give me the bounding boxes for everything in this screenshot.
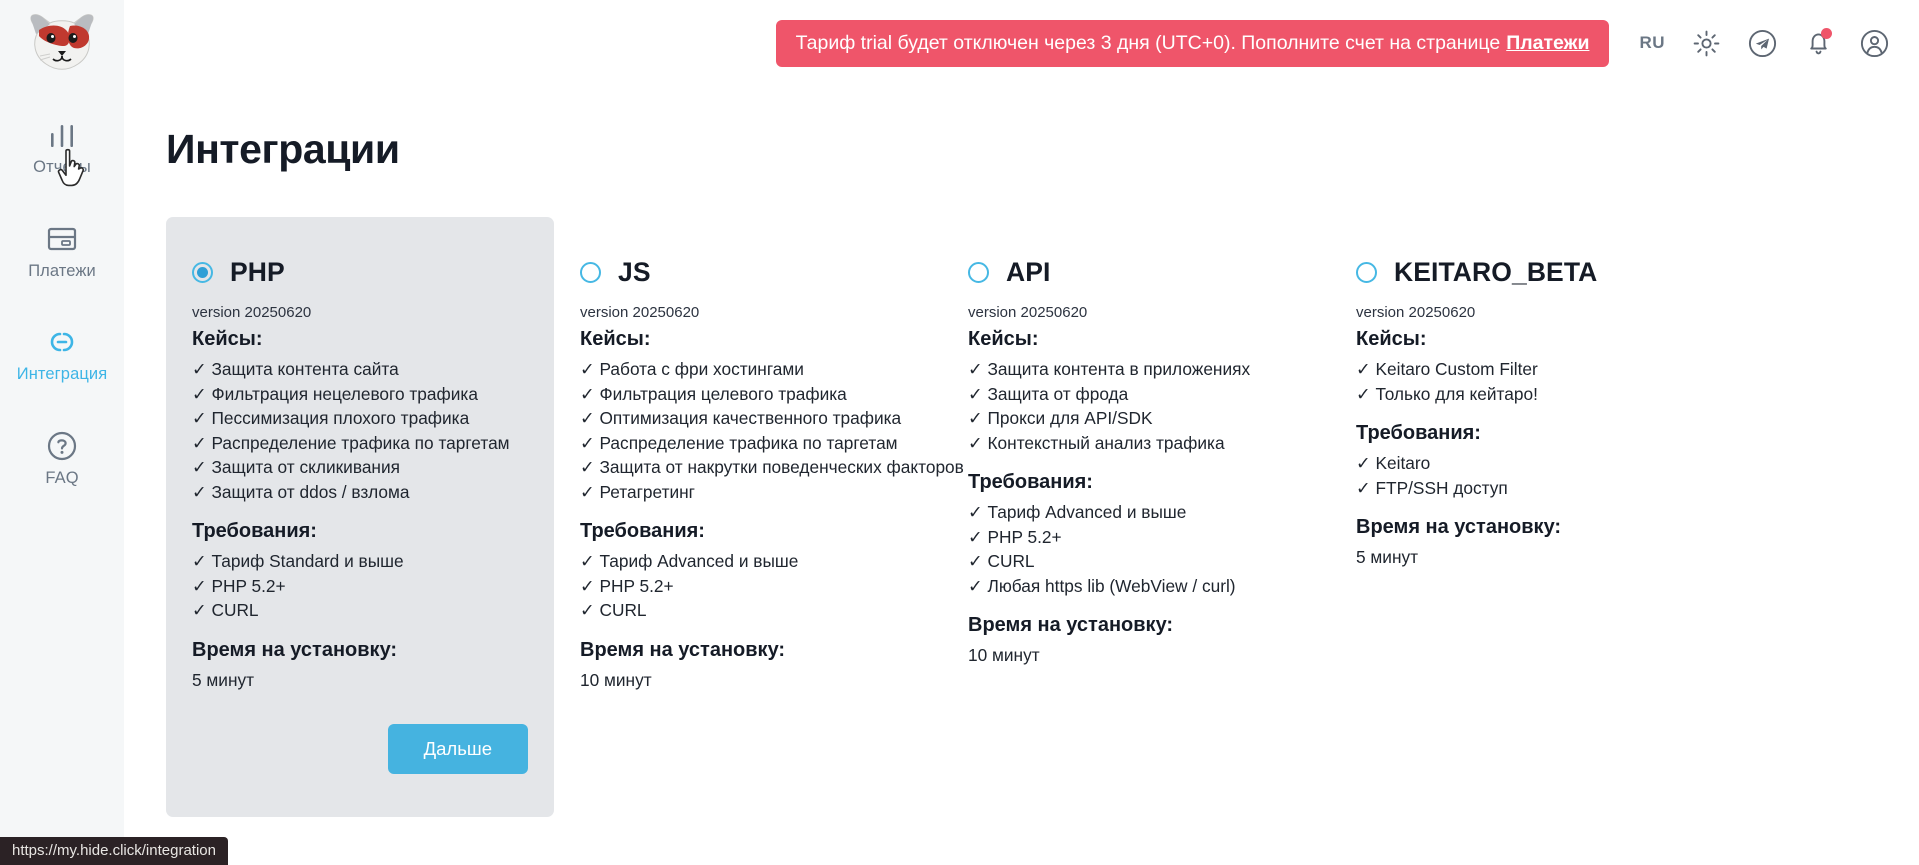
radio-button-keitaro_beta[interactable] xyxy=(1356,262,1377,283)
feature-label: Контекстный анализ трафика xyxy=(987,433,1224,453)
check-icon: ✓ xyxy=(192,600,206,620)
sidebar-item-reports[interactable]: Отчеты xyxy=(0,108,124,186)
topbar-actions: RU xyxy=(1639,28,1889,58)
feature-label: Любая https lib (WebView / curl) xyxy=(987,576,1235,596)
alert-payments-link[interactable]: Платежи xyxy=(1506,32,1589,55)
bar-chart-icon xyxy=(45,118,79,152)
feature-item: ✓FTP/SSH доступ xyxy=(1356,476,1692,501)
card-version: version 20250620 xyxy=(1356,304,1692,321)
check-icon: ✓ xyxy=(968,384,982,404)
raccoon-logo-svg xyxy=(26,12,98,74)
sidebar-item-label: FAQ xyxy=(45,470,78,487)
user-circle-icon[interactable] xyxy=(1859,28,1889,58)
feature-item: ✓Контекстный анализ трафика xyxy=(968,431,1304,456)
feature-item: ✓Только для кейтаро! xyxy=(1356,382,1692,407)
integration-card[interactable]: APIversion 20250620Кейсы:✓Защита контент… xyxy=(942,217,1330,696)
topbar: Тариф trial будет отключен через 3 дня (… xyxy=(124,0,1919,86)
radio-button-api[interactable] xyxy=(968,262,989,283)
card-title: PHP xyxy=(230,257,285,288)
section-title: Кейсы: xyxy=(1356,328,1692,351)
language-switcher[interactable]: RU xyxy=(1639,33,1665,53)
check-icon: ✓ xyxy=(1356,384,1370,404)
feature-item: ✓Защита от фрода xyxy=(968,382,1304,407)
section-title: Кейсы: xyxy=(192,328,528,351)
raccoon-logo[interactable] xyxy=(26,12,98,74)
radio-button-js[interactable] xyxy=(580,262,601,283)
link-icon xyxy=(45,325,79,359)
feature-label: Только для кейтаро! xyxy=(1375,384,1537,404)
check-icon: ✓ xyxy=(1356,453,1370,473)
section-title: Время на установку: xyxy=(192,639,528,662)
install-time-value: 5 минут xyxy=(1356,545,1692,570)
feature-label: Оптимизация качественного трафика xyxy=(599,408,901,428)
section-title: Требования: xyxy=(580,520,916,543)
sidebar-item-label: Платежи xyxy=(28,263,96,280)
check-icon: ✓ xyxy=(968,551,982,571)
alert-text: Тариф trial будет отключен через 3 дня (… xyxy=(796,32,1501,55)
feature-item: ✓Распределение трафика по таргетам xyxy=(192,431,528,456)
check-icon: ✓ xyxy=(580,384,594,404)
check-icon: ✓ xyxy=(580,600,594,620)
feature-item: ✓PHP 5.2+ xyxy=(192,574,528,599)
card-version: version 20250620 xyxy=(192,304,528,321)
telegram-icon[interactable] xyxy=(1747,28,1777,58)
feature-item: ✓Прокси для API/SDK xyxy=(968,406,1304,431)
feature-item: ✓PHP 5.2+ xyxy=(968,525,1304,550)
app-root: Отчеты Платежи xyxy=(0,0,1919,865)
feature-item: ✓Защита от скликивания xyxy=(192,455,528,480)
question-circle-icon xyxy=(46,429,78,463)
install-time-value: 10 минут xyxy=(968,643,1304,668)
feature-item: ✓CURL xyxy=(968,549,1304,574)
check-icon: ✓ xyxy=(192,576,206,596)
integration-card[interactable]: JSversion 20250620Кейсы:✓Работа с фри хо… xyxy=(554,217,942,720)
check-icon: ✓ xyxy=(192,384,206,404)
check-icon: ✓ xyxy=(968,502,982,522)
check-icon: ✓ xyxy=(968,576,982,596)
feature-label: PHP 5.2+ xyxy=(599,576,673,596)
feature-label: CURL xyxy=(211,600,258,620)
feature-label: PHP 5.2+ xyxy=(211,576,285,596)
feature-item: ✓Тариф Standard и выше xyxy=(192,549,528,574)
card-header: PHP xyxy=(192,257,528,288)
trial-alert-banner: Тариф trial будет отключен через 3 дня (… xyxy=(776,20,1610,67)
feature-label: Защита контента в приложениях xyxy=(987,359,1250,379)
sidebar-item-payments[interactable]: Платежи xyxy=(0,212,124,290)
check-icon: ✓ xyxy=(192,457,206,477)
feature-label: Пессимизация плохого трафика xyxy=(211,408,469,428)
sidebar: Отчеты Платежи xyxy=(0,0,124,865)
main-content: Интеграции PHPversion 20250620Кейсы:✓Защ… xyxy=(124,86,1919,865)
feature-label: Защита от ddos / взлома xyxy=(211,482,409,502)
check-icon: ✓ xyxy=(580,551,594,571)
feature-label: Распределение трафика по таргетам xyxy=(599,433,897,453)
check-icon: ✓ xyxy=(580,433,594,453)
feature-label: Распределение трафика по таргетам xyxy=(211,433,509,453)
feature-item: ✓Keitaro Custom Filter xyxy=(1356,357,1692,382)
install-time-value: 10 минут xyxy=(580,668,916,693)
radio-button-php[interactable] xyxy=(192,262,213,283)
check-icon: ✓ xyxy=(192,551,206,571)
page-title: Интеграции xyxy=(166,126,1919,173)
check-icon: ✓ xyxy=(1356,478,1370,498)
check-icon: ✓ xyxy=(192,359,206,379)
card-title: KEITARO_BETA xyxy=(1394,257,1597,288)
section-title: Время на установку: xyxy=(968,614,1304,637)
feature-label: Фильтрация нецелевого трафика xyxy=(211,384,477,404)
feature-item: ✓Ретагретинг xyxy=(580,480,916,505)
sidebar-item-integration[interactable]: Интеграция xyxy=(0,315,124,393)
section-title: Кейсы: xyxy=(968,328,1304,351)
sidebar-nav: Отчеты Платежи xyxy=(0,108,124,522)
feature-item: ✓Защита контента сайта xyxy=(192,357,528,382)
bell-icon[interactable] xyxy=(1803,28,1833,58)
check-icon: ✓ xyxy=(192,482,206,502)
check-icon: ✓ xyxy=(968,433,982,453)
integration-card[interactable]: PHPversion 20250620Кейсы:✓Защита контент… xyxy=(166,217,554,817)
feature-item: ✓PHP 5.2+ xyxy=(580,574,916,599)
feature-label: Прокси для API/SDK xyxy=(987,408,1152,428)
feature-item: ✓Защита контента в приложениях xyxy=(968,357,1304,382)
feature-label: Keitaro xyxy=(1375,453,1430,473)
integration-card[interactable]: KEITARO_BETAversion 20250620Кейсы:✓Keita… xyxy=(1330,217,1718,598)
feature-item: ✓Защита от накрутки поведенческих фактор… xyxy=(580,455,916,480)
check-icon: ✓ xyxy=(968,527,982,547)
feature-label: Тариф Advanced и выше xyxy=(987,502,1186,522)
check-icon: ✓ xyxy=(580,408,594,428)
feature-label: Тариф Standard и выше xyxy=(211,551,403,571)
feature-label: FTP/SSH доступ xyxy=(1375,478,1507,498)
feature-label: Keitaro Custom Filter xyxy=(1375,359,1537,379)
card-version: version 20250620 xyxy=(580,304,916,321)
feature-item: ✓Пессимизация плохого трафика xyxy=(192,406,528,431)
feature-label: CURL xyxy=(599,600,646,620)
feature-label: Защита контента сайта xyxy=(211,359,398,379)
card-title: JS xyxy=(618,257,651,288)
card-header: JS xyxy=(580,257,916,288)
check-icon: ✓ xyxy=(968,408,982,428)
sidebar-item-faq[interactable]: FAQ xyxy=(0,419,124,497)
check-icon: ✓ xyxy=(192,433,206,453)
feature-item: ✓Тариф Advanced и выше xyxy=(968,500,1304,525)
sun-icon[interactable] xyxy=(1691,28,1721,58)
feature-item: ✓CURL xyxy=(192,598,528,623)
feature-label: Защита от скликивания xyxy=(211,457,400,477)
card-version: version 20250620 xyxy=(968,304,1304,321)
feature-item: ✓Фильтрация нецелевого трафика xyxy=(192,382,528,407)
feature-item: ✓Фильтрация целевого трафика xyxy=(580,382,916,407)
browser-status-bar-url: https://my.hide.click/integration xyxy=(0,837,228,865)
section-title: Кейсы: xyxy=(580,328,916,351)
feature-label: Фильтрация целевого трафика xyxy=(599,384,846,404)
check-icon: ✓ xyxy=(192,408,206,428)
feature-item: ✓Защита от ddos / взлома xyxy=(192,480,528,505)
radio-dot xyxy=(197,267,208,278)
check-icon: ✓ xyxy=(580,457,594,477)
feature-item: ✓Оптимизация качественного трафика xyxy=(580,406,916,431)
feature-item: ✓Любая https lib (WebView / curl) xyxy=(968,574,1304,599)
check-icon: ✓ xyxy=(1356,359,1370,379)
install-time-value: 5 минут xyxy=(192,668,528,693)
section-title: Требования: xyxy=(1356,422,1692,445)
feature-item: ✓Тариф Advanced и выше xyxy=(580,549,916,574)
notification-badge-dot xyxy=(1821,28,1832,39)
card-title: API xyxy=(1006,257,1050,288)
section-title: Время на установку: xyxy=(580,639,916,662)
card-header: API xyxy=(968,257,1304,288)
feature-label: PHP 5.2+ xyxy=(987,527,1061,547)
integration-cards: PHPversion 20250620Кейсы:✓Защита контент… xyxy=(166,217,1919,817)
sidebar-item-label: Отчеты xyxy=(33,159,91,176)
section-title: Требования: xyxy=(192,520,528,543)
feature-item: ✓CURL xyxy=(580,598,916,623)
feature-label: Работа с фри хостингами xyxy=(599,359,803,379)
check-icon: ✓ xyxy=(580,482,594,502)
check-icon: ✓ xyxy=(580,576,594,596)
feature-label: Тариф Advanced и выше xyxy=(599,551,798,571)
card-actions: Дальше xyxy=(192,724,528,774)
feature-label: Ретагретинг xyxy=(599,482,695,502)
feature-item: ✓Работа с фри хостингами xyxy=(580,357,916,382)
card-header: KEITARO_BETA xyxy=(1356,257,1692,288)
section-title: Время на установку: xyxy=(1356,516,1692,539)
feature-item: ✓Keitaro xyxy=(1356,451,1692,476)
feature-label: Защита от накрутки поведенческих факторо… xyxy=(599,457,963,477)
section-title: Требования: xyxy=(968,471,1304,494)
feature-item: ✓Распределение трафика по таргетам xyxy=(580,431,916,456)
feature-label: Защита от фрода xyxy=(987,384,1128,404)
check-icon: ✓ xyxy=(580,359,594,379)
check-icon: ✓ xyxy=(968,359,982,379)
sidebar-item-label: Интеграция xyxy=(17,366,108,383)
card-icon xyxy=(46,222,78,256)
next-button[interactable]: Дальше xyxy=(388,724,528,774)
feature-label: CURL xyxy=(987,551,1034,571)
